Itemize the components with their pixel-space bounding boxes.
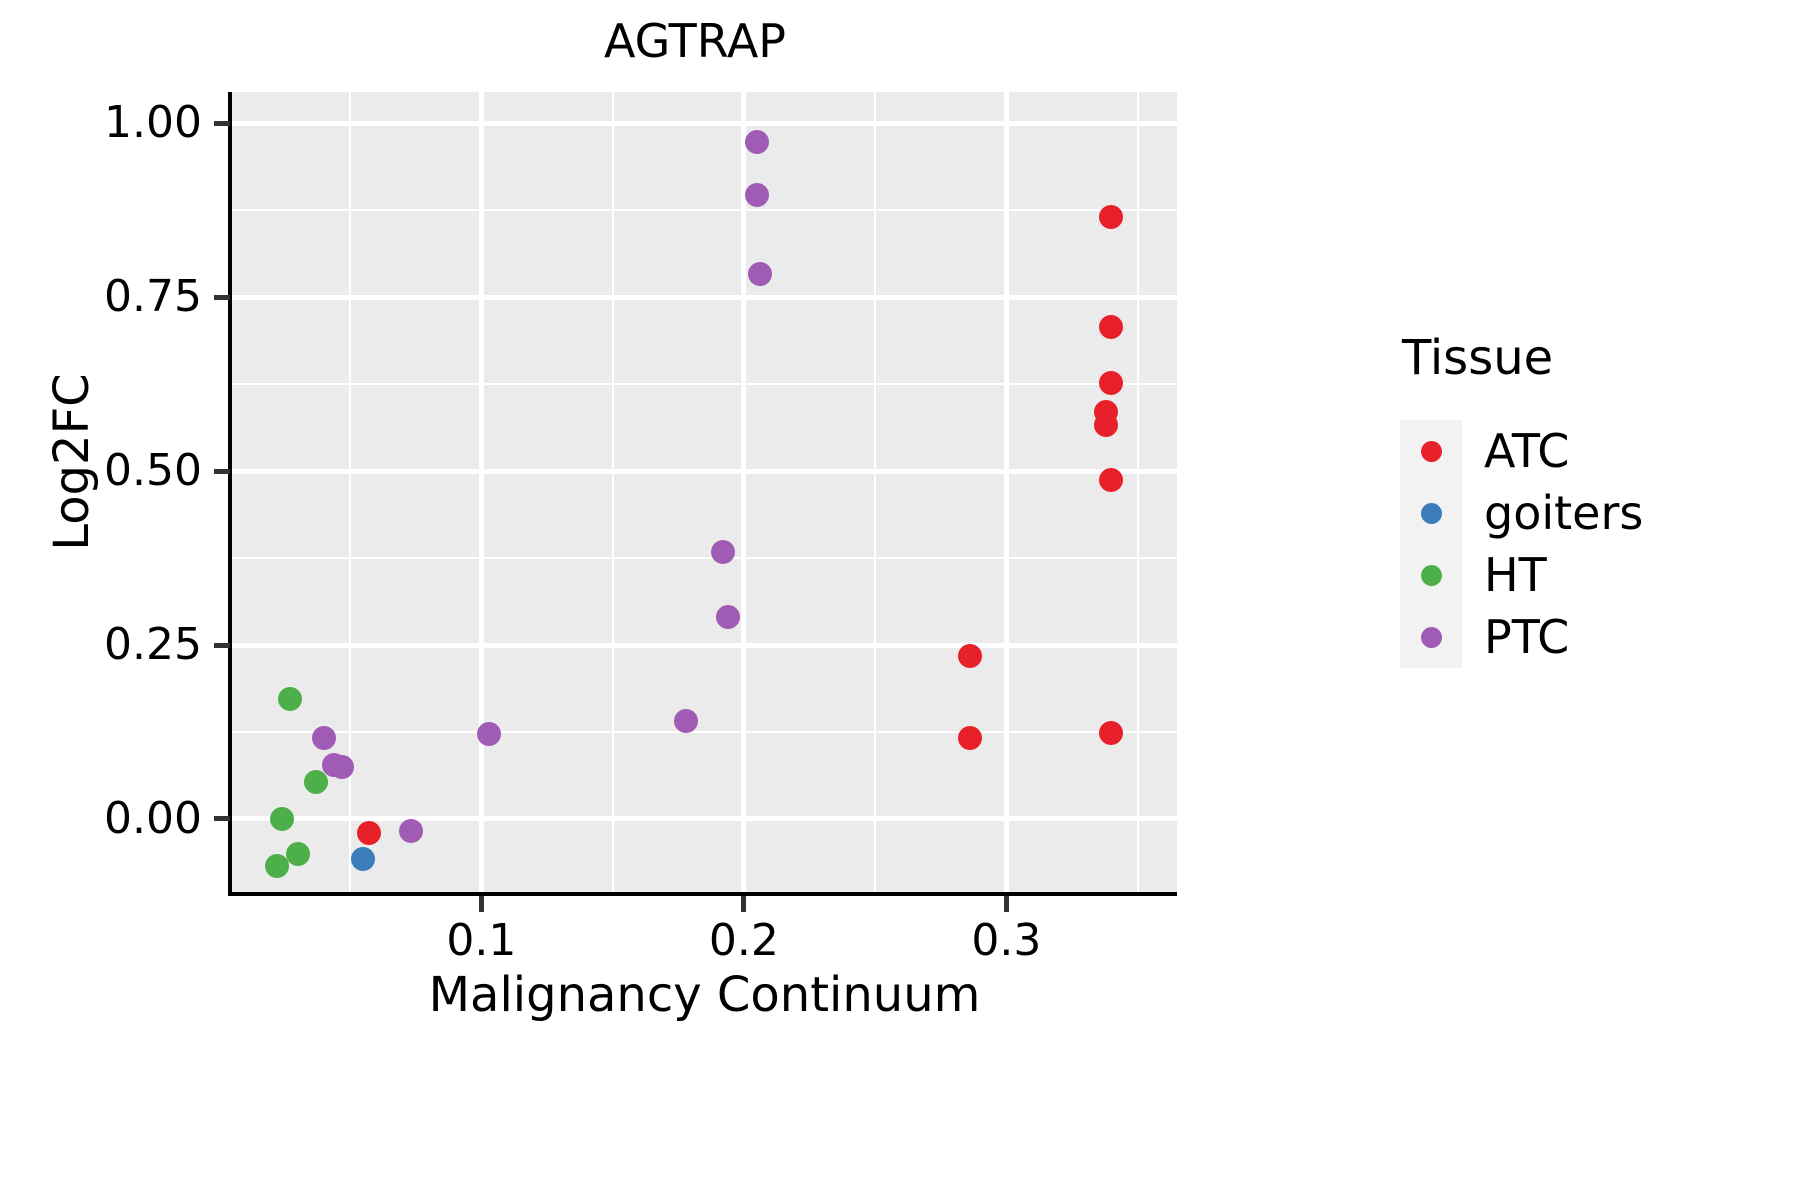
- legend-key-swatch: [1400, 606, 1462, 668]
- data-point-ht: [304, 770, 328, 794]
- gridline-y-minor: [232, 209, 1177, 211]
- data-point-atc: [958, 644, 982, 668]
- legend-dot-icon: [1421, 627, 1442, 648]
- gridline-y-minor: [232, 731, 1177, 733]
- x-tick-label: 0.2: [644, 916, 844, 966]
- gridline-y-major: [232, 643, 1177, 648]
- data-point-ptc: [674, 709, 698, 733]
- legend-key-swatch: [1400, 482, 1462, 544]
- legend-item-label: HT: [1484, 549, 1547, 601]
- legend-item-goiters[interactable]: goiters: [1400, 482, 1780, 544]
- data-point-atc: [958, 726, 982, 750]
- data-point-goiters: [351, 847, 375, 871]
- y-tick-label: 0.75: [2, 275, 202, 319]
- legend-dot-icon: [1421, 441, 1442, 462]
- gridline-y-minor: [232, 383, 1177, 385]
- data-point-atc: [1099, 371, 1123, 395]
- y-tick-mark: [214, 643, 230, 648]
- y-tick-mark: [214, 121, 230, 126]
- data-point-atc: [1094, 413, 1118, 437]
- data-point-ht: [270, 807, 294, 831]
- data-point-atc: [1099, 205, 1123, 229]
- legend-item-atc[interactable]: ATC: [1400, 420, 1780, 482]
- x-axis-line: [228, 892, 1177, 896]
- y-tick-label: 0.50: [2, 449, 202, 493]
- data-point-ptc: [312, 726, 336, 750]
- chart-root: AGTRAP 0.000.250.500.751.00 0.10.20.3 Ma…: [0, 0, 1800, 1200]
- data-point-atc: [1099, 468, 1123, 492]
- y-tick-mark: [214, 469, 230, 474]
- data-point-ptc: [330, 755, 354, 779]
- x-tick-mark: [741, 896, 746, 912]
- data-point-atc: [1099, 721, 1123, 745]
- y-axis-line: [228, 92, 232, 892]
- data-point-ptc: [477, 722, 501, 746]
- gridline-y-minor: [232, 557, 1177, 559]
- gridline-x-major: [1004, 92, 1009, 892]
- data-point-ptc: [745, 183, 769, 207]
- y-tick-label: 1.00: [2, 101, 202, 145]
- legend-item-label: PTC: [1484, 611, 1569, 663]
- legend-item-label: goiters: [1484, 487, 1643, 539]
- legend-item-label: ATC: [1484, 425, 1569, 477]
- data-point-ptc: [716, 605, 740, 629]
- y-axis-title: Log2FC: [44, 222, 100, 702]
- legend-items: ATCgoitersHTPTC: [1400, 420, 1780, 668]
- data-point-ht: [286, 842, 310, 866]
- gridline-x-major: [479, 92, 484, 892]
- legend-dot-icon: [1421, 503, 1442, 524]
- legend-key-swatch: [1400, 544, 1462, 606]
- data-point-atc: [357, 821, 381, 845]
- gridline-x-minor: [612, 92, 614, 892]
- x-axis-title: Malignancy Continuum: [232, 966, 1177, 1024]
- page-title: AGTRAP: [0, 14, 1390, 68]
- data-point-ptc: [711, 540, 735, 564]
- data-point-atc: [1099, 315, 1123, 339]
- data-point-ht: [265, 854, 289, 878]
- y-tick-label: 0.00: [2, 797, 202, 841]
- x-tick-mark: [1004, 896, 1009, 912]
- data-point-ht: [278, 687, 302, 711]
- x-tick-label: 0.3: [906, 916, 1106, 966]
- data-point-ptc: [745, 130, 769, 154]
- gridline-y-major: [232, 816, 1177, 821]
- legend-key-swatch: [1400, 420, 1462, 482]
- data-point-ptc: [399, 819, 423, 843]
- y-tick-mark: [214, 295, 230, 300]
- gridline-x-major: [741, 92, 746, 892]
- legend-item-ptc[interactable]: PTC: [1400, 606, 1780, 668]
- gridline-y-major: [232, 469, 1177, 474]
- legend: Tissue ATCgoitersHTPTC: [1400, 330, 1780, 668]
- y-tick-label: 0.25: [2, 623, 202, 667]
- x-tick-label: 0.1: [381, 916, 581, 966]
- legend-dot-icon: [1421, 565, 1442, 586]
- y-tick-mark: [214, 816, 230, 821]
- legend-title: Tissue: [1402, 330, 1780, 386]
- gridline-y-major: [232, 295, 1177, 300]
- x-tick-mark: [479, 896, 484, 912]
- legend-item-ht[interactable]: HT: [1400, 544, 1780, 606]
- data-point-ptc: [748, 262, 772, 286]
- gridline-x-minor: [1137, 92, 1139, 892]
- gridline-x-minor: [874, 92, 876, 892]
- plot-panel: [232, 92, 1177, 892]
- gridline-y-major: [232, 121, 1177, 126]
